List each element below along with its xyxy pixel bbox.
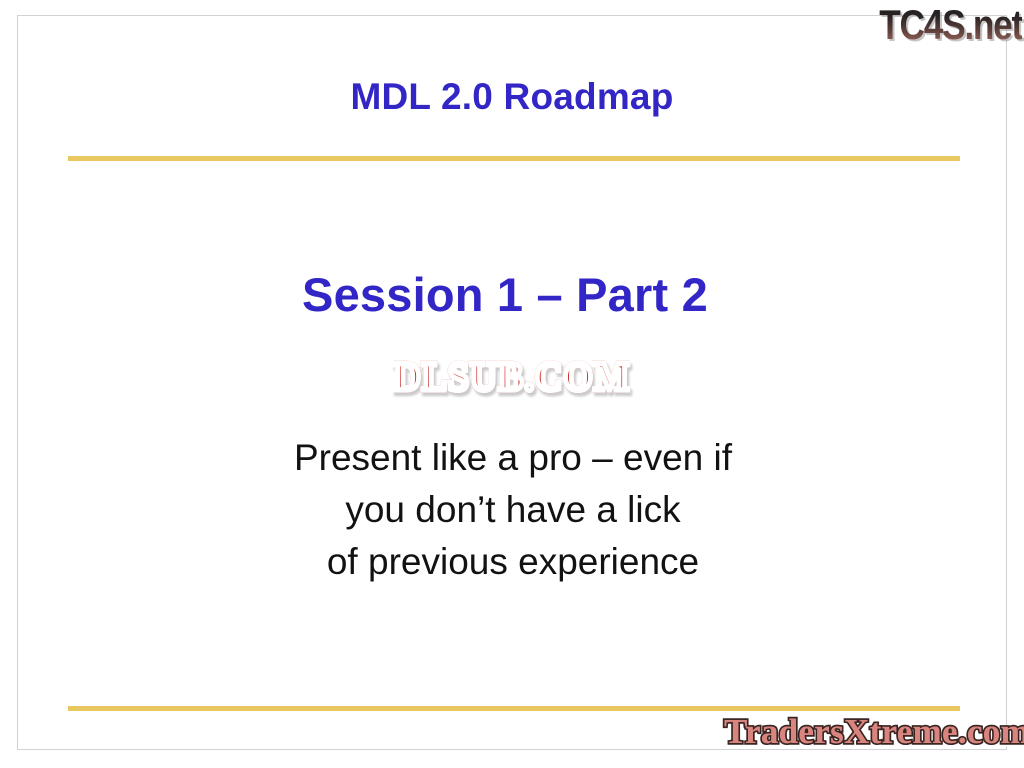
divider-rule-bottom <box>68 706 960 711</box>
session-heading: Session 1 – Part 2 <box>0 267 1010 322</box>
page-title: MDL 2.0 Roadmap <box>0 76 1024 118</box>
body-line-3: of previous experience <box>0 536 1024 588</box>
watermark-tradersxtreme: TradersXtreme.com <box>724 712 1024 752</box>
body-copy: Present like a pro – even if you don’t h… <box>0 432 1024 588</box>
divider-rule-top <box>68 156 960 161</box>
body-line-1: Present like a pro – even if <box>0 432 1024 484</box>
slide-frame-border <box>17 15 1007 750</box>
body-line-2: you don’t have a lick <box>0 484 1024 536</box>
watermark-tc4s: TC4S.net <box>879 2 1022 48</box>
slide-canvas: MDL 2.0 Roadmap Session 1 – Part 2 DLSUB… <box>0 0 1024 768</box>
